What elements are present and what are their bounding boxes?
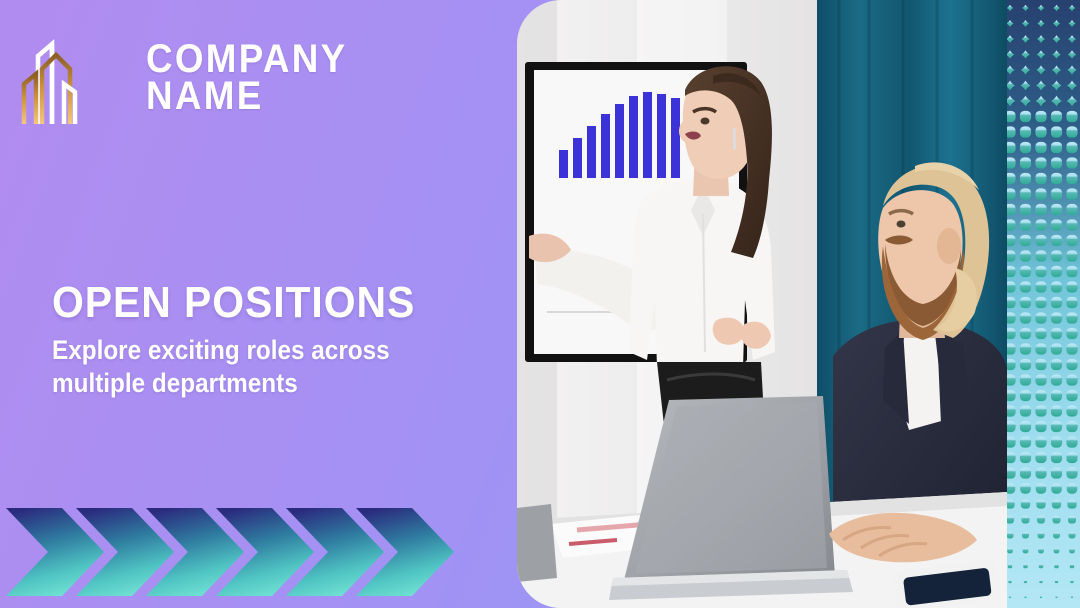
page-title: OPEN POSITIONS	[52, 278, 471, 328]
page-subtitle: Explore exciting roles across multiple d…	[52, 334, 484, 400]
chevron-decoration	[0, 496, 460, 608]
halftone-dot-pattern	[1000, 0, 1080, 608]
brand-logo[interactable]: COMPANY NAME	[18, 22, 365, 134]
recruitment-slide: COMPANY NAME OPEN POSITIONS Explore exci…	[0, 0, 1080, 608]
brand-name-line2: NAME	[146, 78, 347, 115]
chevron-right-icon	[6, 508, 454, 596]
office-meeting-photo	[517, 0, 1007, 608]
building-skyline-icon	[18, 22, 130, 134]
headline-block: OPEN POSITIONS Explore exciting roles ac…	[52, 278, 502, 400]
brand-name-line1: COMPANY	[146, 41, 347, 78]
brand-name: COMPANY NAME	[146, 41, 365, 115]
